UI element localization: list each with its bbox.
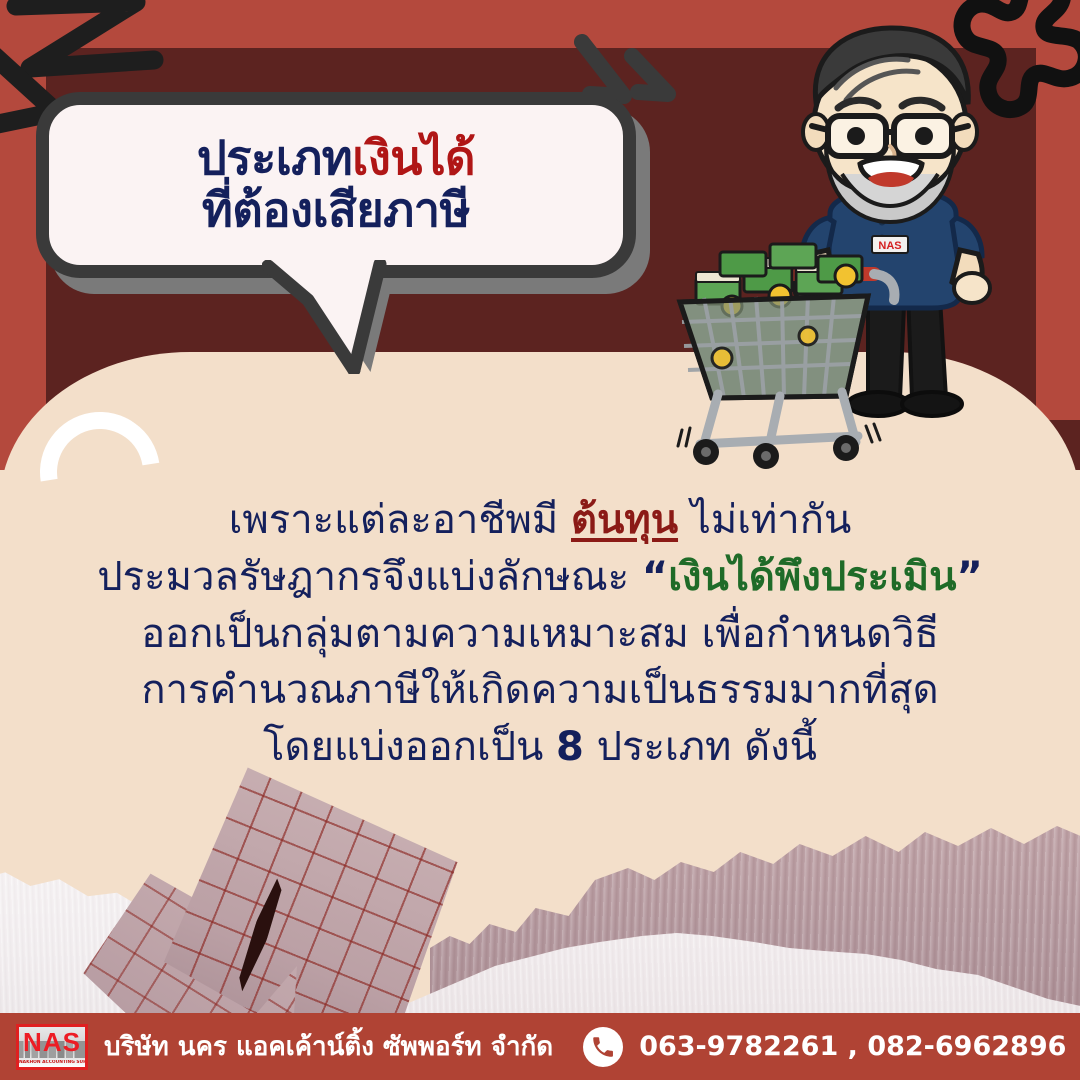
headline-line-1: ประเภทเงินได้ xyxy=(197,134,475,184)
body-line1-pre: เพราะแต่ละอาชีพมี xyxy=(229,497,571,543)
nas-logo: NAS NAKHON ACCOUNTING SUPPORT CO.,LTD xyxy=(16,1024,88,1070)
nas-logo-subtitle: NAKHON ACCOUNTING SUPPORT CO.,LTD xyxy=(19,1060,85,1067)
headline-line1-part1: ประเภท xyxy=(197,131,352,186)
nas-logo-letters: NAS xyxy=(19,1029,85,1055)
body-line-1: เพราะแต่ละอาชีพมี ต้นทุน ไม่เท่ากัน xyxy=(0,492,1080,549)
assessable-income-highlight: เงินได้พึงประเมิน xyxy=(668,554,956,600)
quote-close: ” xyxy=(956,554,982,600)
body-line-2: ประมวลรัษฎากรจึงแบ่งลักษณะ “เงินได้พึงปร… xyxy=(0,549,1080,606)
headline-line-2: ที่ต้องเสียภาษี xyxy=(202,186,470,236)
svg-text:NAS: NAS xyxy=(878,240,901,252)
footer-contact-bar: NAS NAKHON ACCOUNTING SUPPORT CO.,LTD บร… xyxy=(0,1013,1080,1080)
body-line2-pre: ประมวลรัษฎากรจึงแบ่งลักษณะ xyxy=(97,554,642,600)
character-pushing-money-cart: NAS xyxy=(660,6,1080,476)
phone-numbers[interactable]: 063-9782261 , 082-6962896 xyxy=(639,1031,1066,1062)
body-line-4: การคำนวณภาษีให้เกิดความเป็นธรรมมากที่สุด xyxy=(0,662,1080,719)
body-line5-post: ประเภท ดังนี้ xyxy=(584,724,817,770)
body-line5-pre: โดยแบ่งออกเป็น xyxy=(263,724,556,770)
quote-open: “ xyxy=(642,554,668,600)
category-count: 8 xyxy=(556,724,584,770)
body-line-5: โดยแบ่งออกเป็น 8 ประเภท ดังนี้ xyxy=(0,719,1080,776)
body-copy: เพราะแต่ละอาชีพมี ต้นทุน ไม่เท่ากัน ประม… xyxy=(0,492,1080,776)
company-name: บริษัท นคร แอคเค้าน์ติ้ง ซัพพอร์ท จำกัด xyxy=(104,1026,553,1067)
phone-icon[interactable] xyxy=(583,1027,623,1067)
body-line1-post: ไม่เท่ากัน xyxy=(678,497,851,543)
headline-speech-bubble: ประเภทเงินได้ ที่ต้องเสียภาษี xyxy=(36,92,660,362)
phone-glyph-icon xyxy=(590,1034,616,1060)
headline-line1-part2: เงินได้ xyxy=(352,131,475,186)
cost-highlight: ต้นทุน xyxy=(571,497,678,543)
headline-text: ประเภทเงินได้ ที่ต้องเสียภาษี xyxy=(36,92,636,278)
torn-paper-collage xyxy=(0,790,1080,1020)
infographic-poster: NAS xyxy=(0,0,1080,1080)
body-line-3: ออกเป็นกลุ่มตามความเหมาะสม เพื่อกำหนดวิธ… xyxy=(0,606,1080,663)
